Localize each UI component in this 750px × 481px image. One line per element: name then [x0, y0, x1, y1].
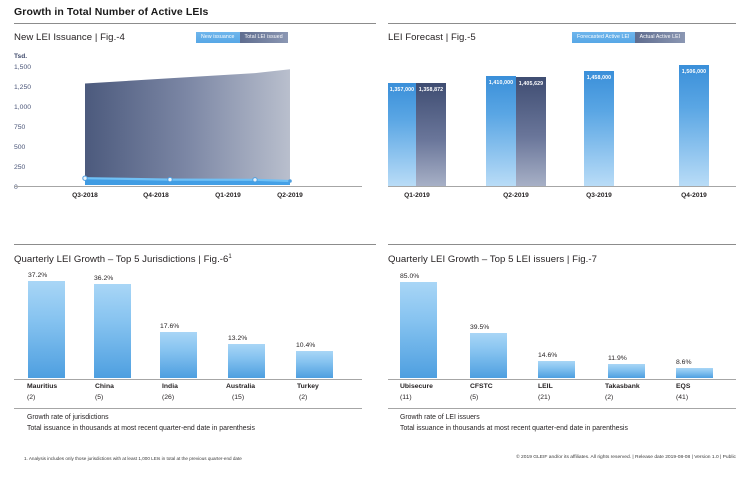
fig6-label-india: India	[162, 383, 178, 390]
fig4-ytick-1500: 1,500	[14, 64, 31, 71]
fig5-xlabel-q4-2019: Q4-2019	[669, 192, 719, 199]
fig6-panel: Quarterly LEI Growth – Top 5 Jurisdictio…	[0, 244, 376, 444]
fig4-legend-item-new-issuance[interactable]: New issuance	[196, 32, 240, 43]
fig5-panel: LEI Forecast | Fig.-5 Forecasted Active …	[376, 23, 750, 228]
fig7-title: Quarterly LEI Growth – Top 5 LEI issuers…	[388, 254, 597, 265]
fig7-count-leil: (21)	[538, 394, 550, 401]
fig6-plot	[0, 278, 376, 378]
fig5-value-q2-actual: 1,405,629	[516, 81, 546, 87]
fig7-count-cfstc: (5)	[470, 394, 478, 401]
fig6-value-mauritius: 37.2%	[28, 272, 47, 279]
fig7-bar-ubisecure[interactable]	[400, 282, 437, 378]
fig7-label-takasbank: Takasbank	[605, 383, 640, 390]
fig5-x-axis	[388, 186, 736, 187]
fig4-marker-q1-2019	[253, 178, 257, 182]
fig6-count-australia: (15)	[232, 394, 244, 401]
fig7-caption-line1: Growth rate of LEI issuers	[400, 413, 480, 423]
fig5-legend: Forecasted Active LEI Actual Active LEI	[572, 32, 685, 43]
fig6-bar-australia[interactable]	[228, 344, 265, 378]
fig7-count-takasbank: (2)	[605, 394, 613, 401]
fig4-marker-q3-2018	[83, 176, 87, 180]
fig5-bar-q3-forecast[interactable]: 1,458,000	[584, 71, 614, 186]
fig5-legend-item-actual[interactable]: Actual Active LEI	[635, 32, 686, 43]
fig6-value-turkey: 10.4%	[296, 342, 315, 349]
fig7-label-leil: LEIL	[538, 383, 553, 390]
fig6-bar-turkey[interactable]	[296, 351, 333, 378]
fig6-bar-china[interactable]	[94, 284, 131, 378]
fig6-label-australia: Australia	[226, 383, 255, 390]
fig4-ytick-1250: 1,250	[14, 84, 31, 91]
fig5-plot: 1,357,000 1,358,872 1,410,000 1,405,629 …	[376, 63, 750, 186]
fig6-count-china: (5)	[95, 394, 103, 401]
fig6-title-text: Quarterly LEI Growth – Top 5 Jurisdictio…	[14, 254, 228, 265]
fig7-panel: Quarterly LEI Growth – Top 5 LEI issuers…	[376, 244, 750, 444]
fig6-x-axis	[14, 379, 362, 380]
fig6-title-footnote-marker: 1	[228, 254, 231, 260]
fig6-value-australia: 13.2%	[228, 335, 247, 342]
fig6-title: Quarterly LEI Growth – Top 5 Jurisdictio…	[14, 254, 232, 265]
fig7-value-ubisecure: 85.0%	[400, 273, 419, 280]
fig4-marker-q2-2019	[288, 179, 292, 183]
fig4-axis-unit: Tsd.	[14, 53, 27, 60]
fig6-bar-mauritius[interactable]	[28, 281, 65, 378]
dashboard-page: Growth in Total Number of Active LEIs Ne…	[0, 0, 750, 481]
fig7-label-cfstc: CFSTC	[470, 383, 493, 390]
fig7-bar-eqs[interactable]	[676, 368, 713, 378]
fig5-bar-q1-forecast[interactable]: 1,357,000	[388, 83, 416, 186]
fig6-caption-divider	[14, 408, 362, 409]
footer-copyright: © 2019 GLEIF and/or its affiliates. All …	[400, 455, 736, 460]
fig6-count-mauritius: (2)	[27, 394, 35, 401]
fig4-ytick-250: 250	[14, 164, 25, 171]
fig7-value-eqs: 8.6%	[676, 359, 692, 366]
fig5-title: LEI Forecast | Fig.-5	[388, 32, 476, 43]
fig5-xlabel-q1-2019: Q1-2019	[392, 192, 442, 199]
fig6-count-turkey: (2)	[299, 394, 307, 401]
fig6-caption-line2: Total issuance in thousands at most rece…	[27, 424, 255, 434]
fig6-caption-line1: Growth rate of jurisdictions	[27, 413, 109, 423]
fig7-value-leil: 14.6%	[538, 352, 557, 359]
fig6-value-china: 36.2%	[94, 275, 113, 282]
fig7-label-ubisecure: Ubisecure	[400, 383, 433, 390]
fig7-x-axis	[388, 379, 736, 380]
fig4-xlabel-q2-2019: Q2-2019	[265, 192, 315, 199]
fig4-plot	[40, 61, 330, 191]
fig4-x-axis	[14, 186, 362, 187]
fig4-xlabel-q4-2018: Q4-2018	[131, 192, 181, 199]
page-title: Growth in Total Number of Active LEIs	[14, 6, 208, 18]
fig5-value-q3-forecast: 1,458,000	[584, 75, 614, 81]
fig5-bar-q4-forecast[interactable]: 1,506,000	[679, 65, 709, 186]
fig5-bar-q1-actual[interactable]: 1,358,872	[416, 83, 446, 186]
fig4-area-total-lei	[85, 69, 290, 185]
fig4-xlabel-q3-2018: Q3-2018	[60, 192, 110, 199]
fig7-value-cfstc: 39.5%	[470, 324, 489, 331]
fig4-title: New LEI Issuance | Fig.-4	[14, 32, 125, 43]
fig5-bar-q2-forecast[interactable]: 1,410,000	[486, 76, 516, 186]
fig5-legend-item-forecasted[interactable]: Forecasted Active LEI	[572, 32, 635, 43]
fig6-label-china: China	[95, 383, 114, 390]
fig6-label-mauritius: Mauritius	[27, 383, 57, 390]
fig4-ytick-750: 750	[14, 124, 25, 131]
fig4-ytick-1000: 1,000	[14, 104, 31, 111]
fig5-xlabel-q2-2019: Q2-2019	[491, 192, 541, 199]
fig6-count-india: (26)	[162, 394, 174, 401]
fig4-panel: New LEI Issuance | Fig.-4 New issuance T…	[0, 23, 376, 228]
fig4-ytick-500: 500	[14, 144, 25, 151]
fig5-value-q1-actual: 1,358,872	[416, 87, 446, 93]
fig6-bar-india[interactable]	[160, 332, 197, 378]
fig7-label-eqs: EQS	[676, 383, 690, 390]
fig4-legend: New issuance Total LEI issued	[196, 32, 288, 43]
fig6-value-india: 17.6%	[160, 323, 179, 330]
fig4-legend-item-total-lei-issued[interactable]: Total LEI issued	[240, 32, 288, 43]
fig7-bar-cfstc[interactable]	[470, 333, 507, 378]
fig5-value-q2-forecast: 1,410,000	[486, 80, 516, 86]
fig7-value-takasbank: 11.9%	[608, 355, 627, 362]
fig6-label-turkey: Turkey	[297, 383, 319, 390]
fig7-count-ubisecure: (11)	[400, 394, 412, 401]
fig7-caption-line2: Total issuance in thousands at most rece…	[400, 424, 628, 434]
fig4-xlabel-q1-2019: Q1-2019	[203, 192, 253, 199]
fig7-count-eqs: (41)	[676, 394, 688, 401]
fig5-xlabel-q3-2019: Q3-2019	[574, 192, 624, 199]
fig4-marker-q4-2018	[168, 177, 172, 181]
fig7-bar-takasbank[interactable]	[608, 364, 645, 378]
fig7-caption-divider	[388, 408, 736, 409]
fig5-value-q4-forecast: 1,506,000	[679, 69, 709, 75]
fig7-plot	[376, 278, 750, 378]
fig6-footnote: 1. Analysis includes only those jurisdic…	[24, 456, 242, 461]
fig5-bar-q2-actual[interactable]: 1,405,629	[516, 77, 546, 186]
fig7-bar-leil[interactable]	[538, 361, 575, 378]
fig5-value-q1-forecast: 1,357,000	[388, 87, 416, 93]
